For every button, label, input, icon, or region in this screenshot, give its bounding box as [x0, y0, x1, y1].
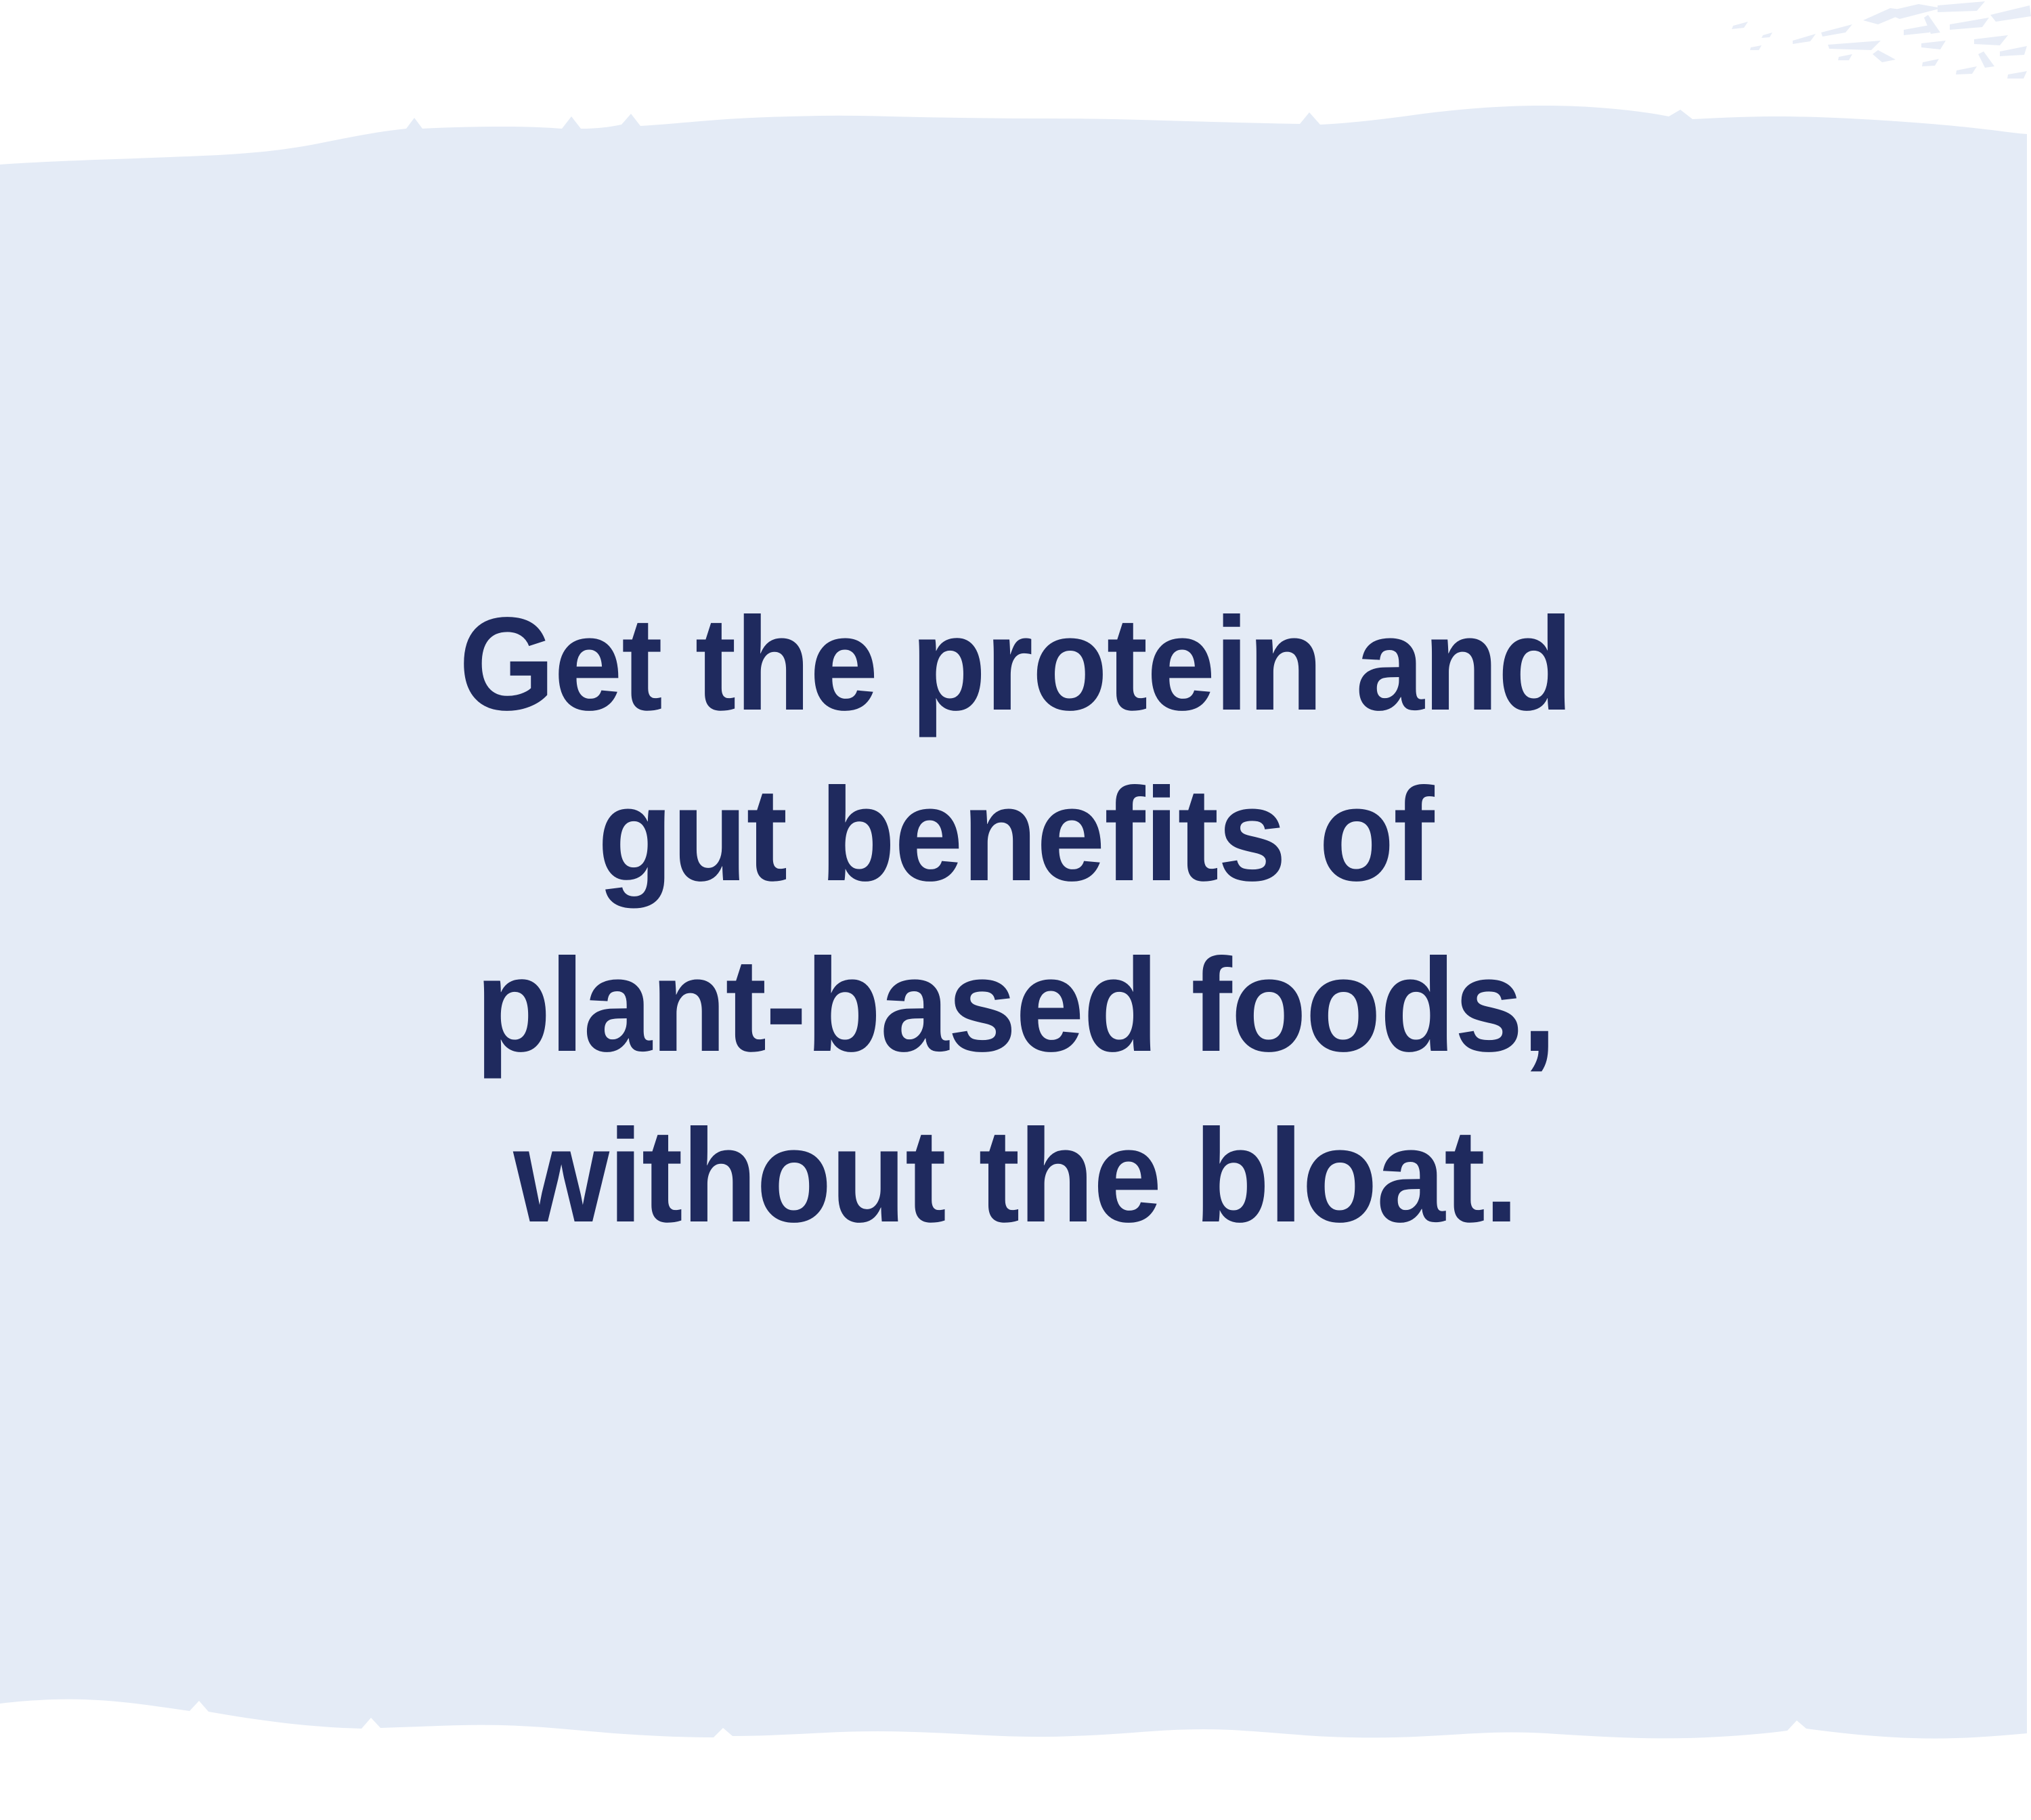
headline-line-2: gut benefits of: [285, 750, 1746, 920]
headline-line-3: plant-based foods,: [285, 920, 1746, 1091]
torn-paper-fragments: [1732, 1, 2031, 79]
headline-line-1: Get the protein and: [285, 579, 1746, 750]
headline-line-4: without the bloat.: [285, 1091, 1746, 1261]
banner-canvas: Get the protein and gut benefits of plan…: [0, 0, 2031, 1820]
